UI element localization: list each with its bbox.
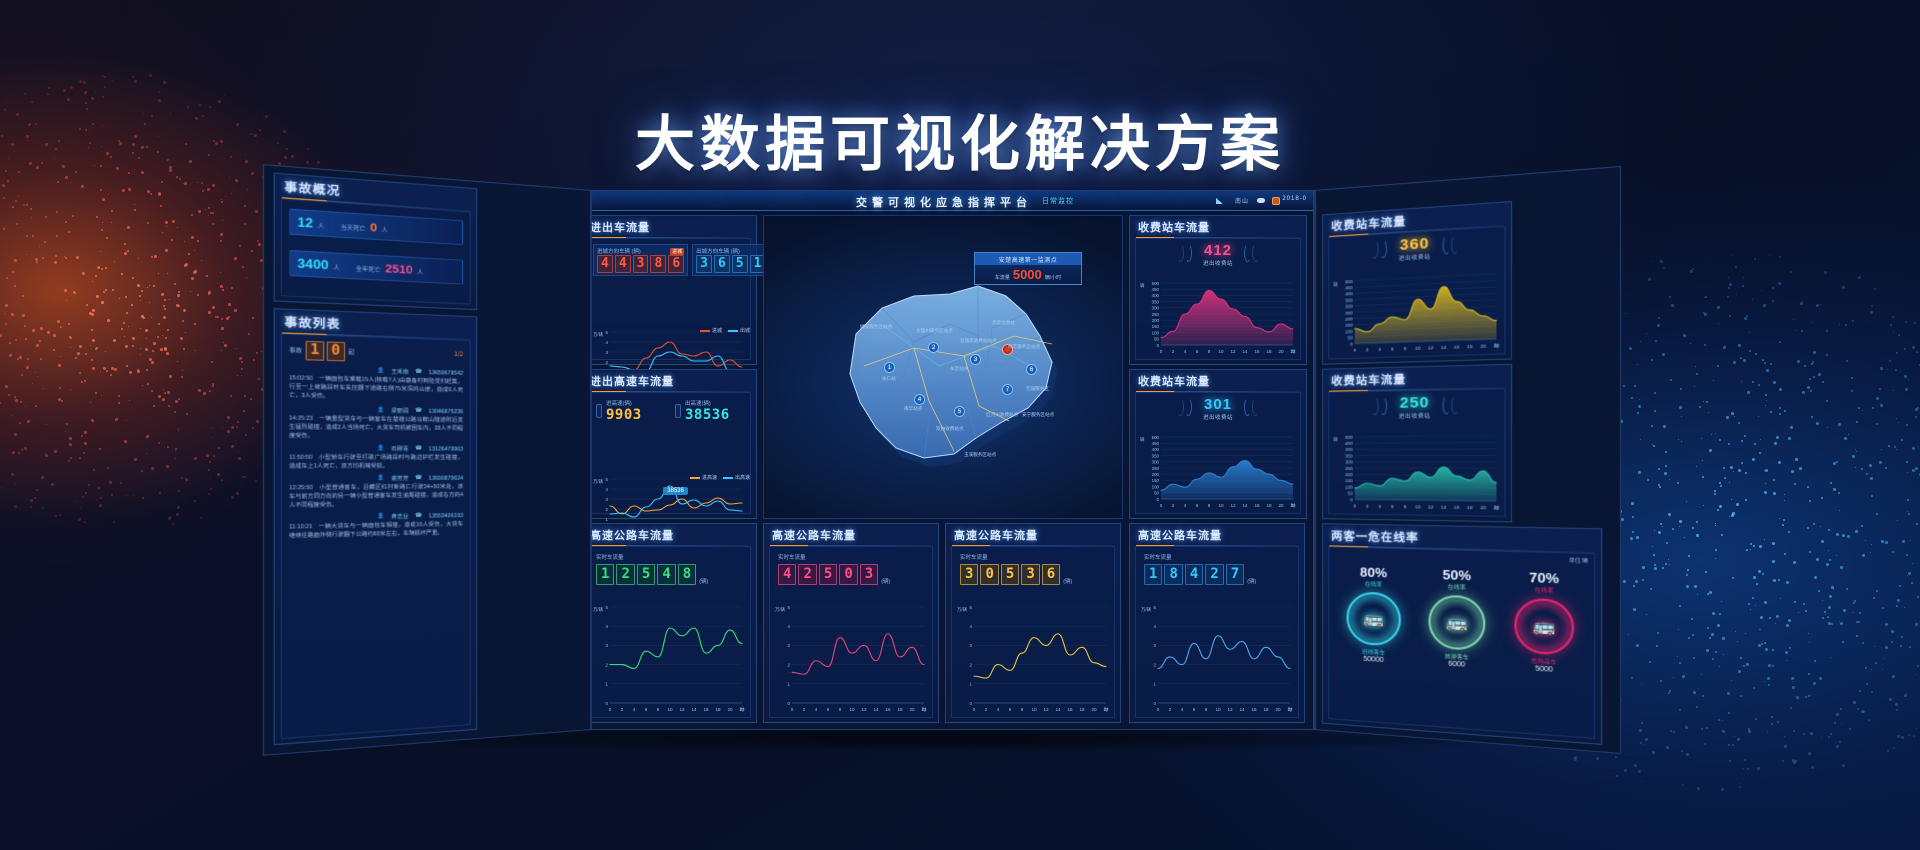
particle	[1851, 377, 1853, 379]
x-tick: 8	[1404, 504, 1407, 509]
particle	[1779, 407, 1781, 409]
particle	[1753, 545, 1755, 547]
particle	[1664, 472, 1667, 475]
particle	[1635, 580, 1638, 583]
particle	[247, 189, 248, 190]
phone-icon[interactable]: ☎	[415, 513, 422, 522]
particle	[182, 320, 184, 322]
particle	[47, 331, 50, 334]
person-icon[interactable]: 👤	[377, 475, 384, 484]
map-node-1[interactable]: 1	[884, 362, 895, 373]
particle	[1914, 322, 1916, 324]
online-rate-item-0: 80%在线率🚌班线客车50000	[1335, 564, 1412, 666]
particle	[185, 482, 186, 483]
particle	[68, 323, 70, 325]
y-tick: 5	[970, 605, 973, 610]
particle	[95, 275, 97, 277]
person-icon[interactable]: 👤	[377, 445, 384, 454]
x-tick: 12	[1230, 503, 1236, 508]
particle	[1795, 760, 1797, 762]
particle	[53, 349, 55, 351]
toll-station-body-1: 360进出收费站 0501001502002503003504004505000…	[1328, 226, 1505, 360]
particle	[1679, 605, 1681, 607]
particle	[1793, 730, 1795, 732]
accident-count-digits: 10	[306, 341, 345, 362]
map-city-label-0: 姚安服务区站点	[860, 324, 892, 330]
person-icon[interactable]: 👤	[377, 513, 384, 522]
wall-screen-left: 事故概况 12人当天死亡0人3400人全年死亡2510人 事故列表 事故 10	[263, 164, 592, 756]
particle	[1782, 524, 1784, 526]
particle	[1662, 526, 1663, 527]
particle	[165, 221, 168, 224]
particle	[1645, 738, 1648, 741]
particle	[1718, 323, 1719, 324]
particle	[1632, 531, 1634, 533]
particle	[1615, 756, 1617, 758]
particle	[118, 395, 120, 397]
particle	[253, 359, 255, 361]
particle	[1669, 296, 1671, 298]
map-node-2[interactable]: 2	[928, 342, 939, 353]
particle	[1801, 330, 1803, 332]
particle	[1631, 677, 1633, 679]
particle	[118, 402, 120, 404]
particle	[185, 502, 186, 503]
panel-highway-traffic-0: 高速公路车流量 实时车流量12548(辆) 012345024681012141…	[581, 523, 757, 723]
particle	[1754, 258, 1756, 260]
particle	[1870, 311, 1873, 314]
particle	[1764, 601, 1767, 604]
highway-traffic-chart-0: 0123450246810121416182022万/辆时	[592, 603, 746, 714]
particle	[1871, 495, 1873, 497]
particle	[1724, 477, 1726, 479]
x-tick: 20	[1275, 707, 1281, 712]
highway-traffic-unit-0: (辆)	[699, 577, 708, 585]
map-canvas[interactable]: 1 2 3 4 5 6 7 姚安服务区站点南华站点大理州服务区站点楚雄南收费站站…	[764, 216, 1122, 518]
particle	[1662, 567, 1664, 569]
particle	[1814, 576, 1817, 579]
x-tick: 14	[1242, 503, 1248, 508]
particle	[1760, 616, 1763, 619]
particle	[1821, 497, 1823, 499]
particle	[124, 252, 127, 255]
y-tick: 0	[788, 701, 791, 706]
particle	[1915, 416, 1917, 418]
particle	[1714, 490, 1716, 492]
particle	[1765, 394, 1767, 396]
particle	[1731, 680, 1732, 681]
particle	[1679, 520, 1682, 523]
accident-list-body: 事故 10 起 1/2 👤王禾南☎1365967854215:02:50 一辆面…	[281, 333, 471, 739]
particle	[1803, 733, 1805, 735]
particle	[82, 496, 84, 498]
particle	[208, 291, 211, 294]
particle	[104, 76, 106, 78]
particle	[3, 197, 5, 199]
digit-3: 4	[657, 564, 675, 585]
particle	[241, 368, 243, 370]
particle	[1688, 637, 1690, 639]
particle	[1682, 784, 1684, 786]
y-tick: 50	[1348, 491, 1354, 496]
particle	[178, 291, 180, 293]
map-node-4[interactable]: 4	[914, 394, 925, 405]
particle	[1885, 646, 1888, 649]
chart-svg: 0123450246810121416182022万/辆时	[774, 603, 928, 714]
particle	[1693, 691, 1696, 694]
x-axis-label: 时	[1288, 706, 1293, 712]
alert-icon[interactable]	[1272, 197, 1280, 205]
particle	[55, 255, 57, 257]
particle	[22, 295, 24, 297]
particle	[175, 448, 177, 450]
phone-icon[interactable]: ☎	[415, 407, 422, 416]
particle	[222, 289, 224, 291]
overview-sub-unit-0: 人	[382, 225, 388, 234]
x-tick: 0	[1157, 707, 1160, 712]
digit-4: 6	[1042, 564, 1060, 585]
particle	[57, 320, 60, 323]
particle	[1833, 589, 1834, 590]
particle	[65, 221, 67, 223]
map-city-label-10: 红河州收费站点	[986, 412, 1018, 418]
particle	[1729, 516, 1730, 517]
particle	[256, 352, 258, 354]
particle	[34, 351, 35, 352]
particle	[1779, 256, 1781, 258]
particle	[1703, 401, 1704, 402]
particle	[158, 323, 160, 325]
particle	[1824, 271, 1827, 274]
particle	[99, 504, 102, 507]
particle	[59, 514, 61, 516]
particle	[1651, 425, 1653, 427]
particle	[1745, 633, 1746, 634]
y-tick: 100	[1152, 330, 1160, 335]
particle	[208, 469, 210, 471]
y-tick: 300	[1152, 306, 1160, 311]
phone-icon[interactable]: ☎	[415, 445, 422, 453]
particle	[1849, 728, 1851, 730]
particle	[1861, 525, 1863, 527]
highway-stat-label-1: 出高速(辆)	[685, 399, 730, 407]
particle	[241, 375, 242, 376]
particle	[90, 509, 91, 510]
particle	[1628, 634, 1629, 635]
highway-traffic-digits-row-3: 18427(辆)	[1144, 564, 1292, 585]
highway-stat-value-1: 38536	[685, 407, 730, 423]
traffic-light-out-icon	[675, 404, 681, 418]
particle	[1900, 371, 1901, 372]
particle	[1859, 612, 1861, 614]
y-tick: 4	[1154, 624, 1157, 629]
particle	[1654, 410, 1656, 412]
map-node-5[interactable]: 5	[954, 406, 965, 417]
particle	[1621, 518, 1624, 521]
particle	[1636, 644, 1639, 647]
particle	[1841, 723, 1842, 724]
accident-overview-row: 3400人全年死亡2510人	[289, 250, 463, 285]
particle	[26, 204, 28, 206]
particle	[1909, 646, 1911, 648]
y-tick: 300	[1152, 460, 1160, 465]
x-tick: 8	[839, 707, 842, 712]
accident-entry-name-0: 王禾南	[391, 368, 408, 377]
particle	[157, 336, 159, 338]
x-tick: 18	[1079, 707, 1085, 712]
highway-traffic-stat-0: 实时车流量12548(辆)	[588, 547, 750, 585]
particle	[1633, 608, 1636, 611]
particle	[1792, 686, 1795, 689]
person-icon[interactable]: 👤	[377, 368, 384, 377]
x-tick: 8	[1404, 346, 1407, 352]
particle	[147, 287, 148, 288]
particle	[1748, 728, 1750, 730]
particle	[1704, 743, 1706, 745]
particle	[1786, 624, 1789, 627]
particle	[14, 505, 17, 508]
particle	[1692, 634, 1694, 636]
particle	[1686, 753, 1689, 756]
mode-badge[interactable]: 日常监控	[1042, 196, 1074, 206]
particle	[75, 357, 77, 359]
particle	[1834, 722, 1836, 724]
list-item: 👤王禾南☎1365967854215:02:50 一辆面包车乘载15人(核载7人…	[289, 366, 463, 404]
particle	[191, 236, 194, 239]
particle	[194, 250, 195, 251]
map-node-6[interactable]: 6	[1026, 364, 1037, 375]
x-tick: 20	[727, 707, 733, 712]
particle	[1696, 706, 1698, 708]
y-tick: 200	[1345, 316, 1353, 322]
particle	[149, 302, 150, 303]
particle	[201, 260, 202, 261]
y-tick: 5	[788, 605, 791, 610]
particle	[194, 500, 196, 502]
particle	[1728, 744, 1730, 746]
particle	[25, 406, 26, 407]
list-item: 👤黄志业☎1355342619311:10:21 一辆大货车与一辆面包车相撞，造…	[289, 512, 463, 541]
particle	[1905, 388, 1908, 391]
particle	[231, 445, 234, 448]
particle	[1690, 343, 1691, 344]
x-tick: 14	[873, 707, 879, 712]
x-tick: 12	[1428, 345, 1434, 351]
particle	[234, 309, 237, 312]
panel-highway-traffic-1: 高速公路车流量 实时车流量42503(辆) 012345024681012141…	[763, 523, 939, 723]
particle	[1695, 366, 1696, 367]
particle	[1912, 447, 1915, 450]
particle	[1888, 445, 1890, 447]
particle	[1723, 654, 1724, 655]
particle	[1772, 649, 1774, 651]
highway-inout-body: 进高速(辆)9903出高速(辆)38536 012345024681012141…	[587, 392, 751, 514]
particle	[85, 353, 87, 355]
panel-title-toll-station-2: 收费站车流量	[1130, 370, 1306, 391]
particle	[224, 344, 227, 347]
particle	[1792, 681, 1793, 682]
particle	[1677, 482, 1679, 484]
particle	[112, 289, 114, 291]
particle	[1890, 324, 1892, 326]
particle	[114, 261, 115, 262]
particle	[1743, 277, 1744, 278]
particle	[1736, 294, 1737, 295]
particle	[221, 201, 223, 203]
particle	[1828, 606, 1831, 609]
particle	[1738, 344, 1741, 347]
particle	[1642, 579, 1644, 581]
particle	[1773, 479, 1775, 481]
panel-map[interactable]: 1 2 3 4 5 6 7 姚安服务区站点南华站点大理州服务区站点楚雄南收费站站…	[763, 215, 1123, 519]
particle	[1765, 469, 1768, 472]
panel-inout-traffic: 进出车流量 进城方向车辆 (辆)进城44386出城方向车辆 (辆)出城36512…	[581, 215, 757, 365]
particle	[1679, 526, 1680, 527]
particle	[1913, 735, 1915, 737]
particle	[45, 454, 48, 457]
x-tick: 6	[1196, 349, 1199, 354]
digit-3: 2	[1205, 564, 1223, 585]
toll-chart-2: 0501001502002503003504004505000246810121…	[1139, 433, 1297, 510]
particle	[177, 361, 178, 362]
particle	[35, 405, 37, 407]
map-node-7[interactable]: 7	[1002, 384, 1013, 395]
particle	[1666, 542, 1668, 544]
particle	[166, 352, 169, 355]
particle	[1779, 341, 1781, 343]
x-axis-label: 时	[1291, 348, 1296, 354]
chart-svg: 0501001502002503003504004505000246810121…	[1332, 269, 1501, 355]
particle	[81, 435, 83, 437]
particle	[1729, 315, 1731, 317]
y-tick: 2	[606, 507, 609, 512]
particle	[141, 315, 144, 318]
particle	[1862, 410, 1863, 411]
particle	[1910, 540, 1911, 541]
toll-gauge-label-0: 进出收费站	[1136, 259, 1300, 267]
particle	[1658, 317, 1660, 319]
particle	[132, 277, 134, 279]
particle	[73, 291, 75, 293]
accident-list-pagination[interactable]: 1/2	[454, 352, 463, 358]
particle	[1740, 657, 1742, 659]
particle	[1741, 381, 1742, 382]
y-tick: 4	[970, 624, 973, 629]
wall-screen-right: 收费站车流量 360进出收费站 050100150200250300350400…	[1314, 166, 1621, 754]
highway-traffic-stat-label-0: 实时车流量	[596, 553, 744, 561]
highway-traffic-unit-2: (辆)	[1063, 577, 1072, 585]
particle	[1839, 510, 1840, 511]
map-node-3[interactable]: 3	[970, 354, 981, 365]
accident-entry-text-2: 11:50:50 小型轿车行驶至打歌广场路段时与路边护栏发生碰撞，造成车上1人死…	[289, 453, 463, 471]
video-wall: 事故概况 12人当天死亡0人3400人全年死亡2510人 事故列表 事故 10	[292, 190, 1592, 730]
particle	[1822, 381, 1824, 383]
particle	[1867, 321, 1868, 322]
particle	[1826, 563, 1829, 566]
person-icon[interactable]: 👤	[377, 406, 384, 415]
particle	[63, 89, 66, 92]
particle	[1912, 346, 1915, 349]
particle	[95, 392, 97, 394]
particle	[18, 195, 19, 196]
particle	[1753, 576, 1756, 579]
particle	[6, 277, 8, 279]
particle	[211, 428, 212, 429]
particle	[210, 488, 212, 490]
particle	[1702, 695, 1704, 697]
particle	[1684, 537, 1685, 538]
particle	[1708, 412, 1709, 413]
particle	[1839, 324, 1840, 325]
particle	[1821, 737, 1822, 738]
y-tick: 250	[1152, 466, 1160, 471]
accident-entry-text-1: 14:25:23 一辆重型货车与一辆客车在楚雄公路马鞍山隧道附近发生猛烈碰撞，造…	[289, 414, 463, 441]
highway-traffic-digits-3: 18427	[1144, 564, 1244, 585]
particle	[1665, 465, 1667, 467]
particle	[0, 402, 1, 404]
particle	[121, 328, 123, 330]
particle	[1722, 637, 1725, 640]
particle	[1810, 695, 1811, 696]
legend-item-1: 出高速	[723, 474, 750, 481]
particle	[1916, 728, 1917, 729]
x-tick: 18	[897, 707, 903, 712]
particle	[1736, 503, 1739, 506]
particle	[1723, 467, 1725, 469]
particle	[34, 497, 36, 499]
dashboard-header: 交警可视化应急指挥平台 日常监控 南山 2018-0	[575, 191, 1313, 211]
phone-icon[interactable]: ☎	[415, 369, 422, 378]
y-tick: 100	[1152, 484, 1160, 489]
particle	[1846, 588, 1848, 590]
highway-traffic-body-1: 实时车流量42503(辆) 0123450246810121416182022万…	[769, 546, 933, 718]
particle	[239, 245, 241, 247]
y-tick: 4	[606, 487, 609, 492]
particle	[151, 256, 153, 258]
particle	[1728, 277, 1729, 278]
legend-label-0: 进高速	[702, 474, 717, 481]
particle	[1780, 598, 1781, 599]
particle	[1696, 466, 1697, 467]
particle	[195, 350, 196, 351]
particle	[42, 507, 44, 509]
x-tick: 0	[791, 707, 794, 712]
y-tick: 5	[1154, 605, 1157, 610]
map-city-label-11: 安宁服务区站点	[1022, 412, 1054, 418]
y-tick: 5	[606, 330, 609, 335]
phone-icon[interactable]: ☎	[415, 475, 422, 484]
particle	[1697, 594, 1698, 595]
particle	[1793, 561, 1796, 564]
particle	[1658, 531, 1661, 534]
highway-traffic-body-2: 实时车流量30536(辆) 0123450246810121416182022万…	[951, 546, 1115, 718]
particle	[1752, 381, 1754, 383]
y-tick: 0	[970, 701, 973, 706]
particle	[1704, 344, 1706, 346]
particle	[208, 207, 210, 209]
x-tick: 2	[1366, 503, 1369, 508]
particle	[1892, 316, 1894, 318]
particle	[1673, 677, 1674, 678]
particle	[134, 204, 135, 205]
particle	[164, 447, 165, 448]
x-tick: 12	[1227, 707, 1233, 712]
particle	[83, 452, 85, 454]
particle	[1897, 599, 1900, 602]
particle	[220, 240, 222, 242]
particle	[1778, 282, 1781, 285]
particle	[9, 354, 12, 357]
